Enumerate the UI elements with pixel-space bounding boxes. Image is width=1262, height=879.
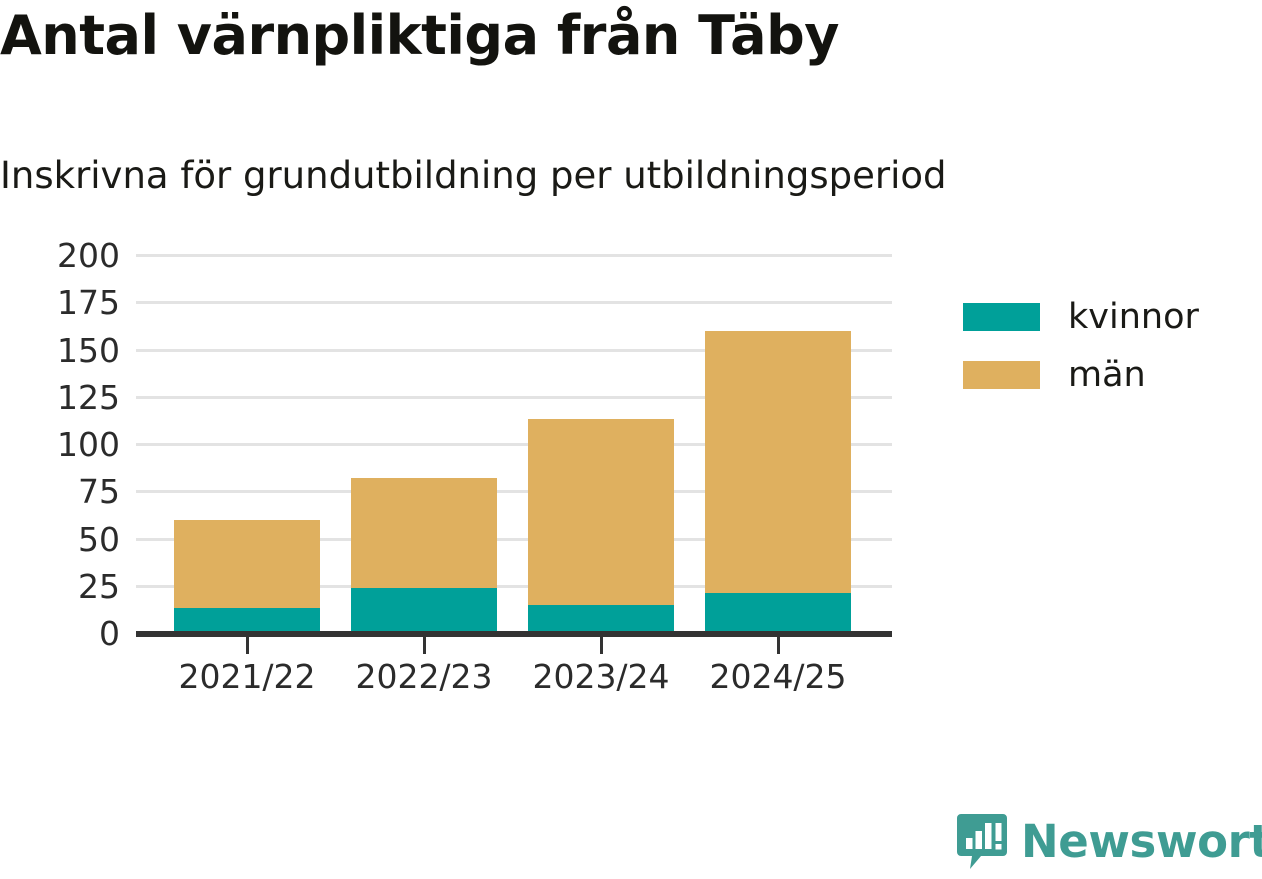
legend-label-man: män <box>1068 354 1146 398</box>
y-axis-tick-label: 0 <box>99 617 120 650</box>
bar-segment-män[interactable] <box>174 520 320 609</box>
legend-label-kvinnor: kvinnor <box>1068 296 1199 340</box>
newsworthy-logo[interactable]: Newsworthy <box>955 812 1262 870</box>
bar-stack[interactable] <box>528 255 674 633</box>
bar-stack[interactable] <box>351 255 497 633</box>
bar-segment-kvinnor[interactable] <box>174 608 320 633</box>
bar-segment-kvinnor[interactable] <box>705 593 851 633</box>
bar-stack[interactable] <box>174 255 320 633</box>
bar-segment-män[interactable] <box>705 331 851 594</box>
y-axis-tick-label: 150 <box>57 334 120 367</box>
newsworthy-wordmark: Newsworthy <box>1021 819 1262 864</box>
bar-segment-kvinnor[interactable] <box>528 605 674 633</box>
newsworthy-speech-bubble-bar-chart-icon <box>955 812 1009 870</box>
y-axis-tick-label: 50 <box>78 523 120 556</box>
bar-segment-kvinnor[interactable] <box>351 588 497 633</box>
legend-swatch-man <box>963 361 1040 389</box>
x-axis-tick-mark <box>600 637 603 654</box>
y-axis-tick-label: 75 <box>78 475 120 508</box>
legend-swatch-kvinnor <box>963 303 1040 331</box>
bar-stack[interactable] <box>705 255 851 633</box>
y-axis-tick-label: 125 <box>57 381 120 414</box>
y-axis-tick-label: 200 <box>57 239 120 272</box>
plot-area <box>136 255 892 638</box>
bar-segment-män[interactable] <box>528 419 674 604</box>
y-axis-tick-label: 25 <box>78 570 120 603</box>
page-title: Antal värnpliktiga från Täby <box>0 6 839 66</box>
y-axis-tick-label: 175 <box>57 286 120 319</box>
x-axis-tick-mark <box>777 637 780 654</box>
bar-segment-män[interactable] <box>351 478 497 588</box>
x-axis-tick-mark <box>246 637 249 654</box>
y-axis-tick-label: 100 <box>57 428 120 461</box>
x-axis-tick-label: 2024/25 <box>668 660 888 693</box>
x-axis-tick-mark <box>423 637 426 654</box>
chart-subtitle: Inskrivna för grundutbildning per utbild… <box>0 155 947 196</box>
